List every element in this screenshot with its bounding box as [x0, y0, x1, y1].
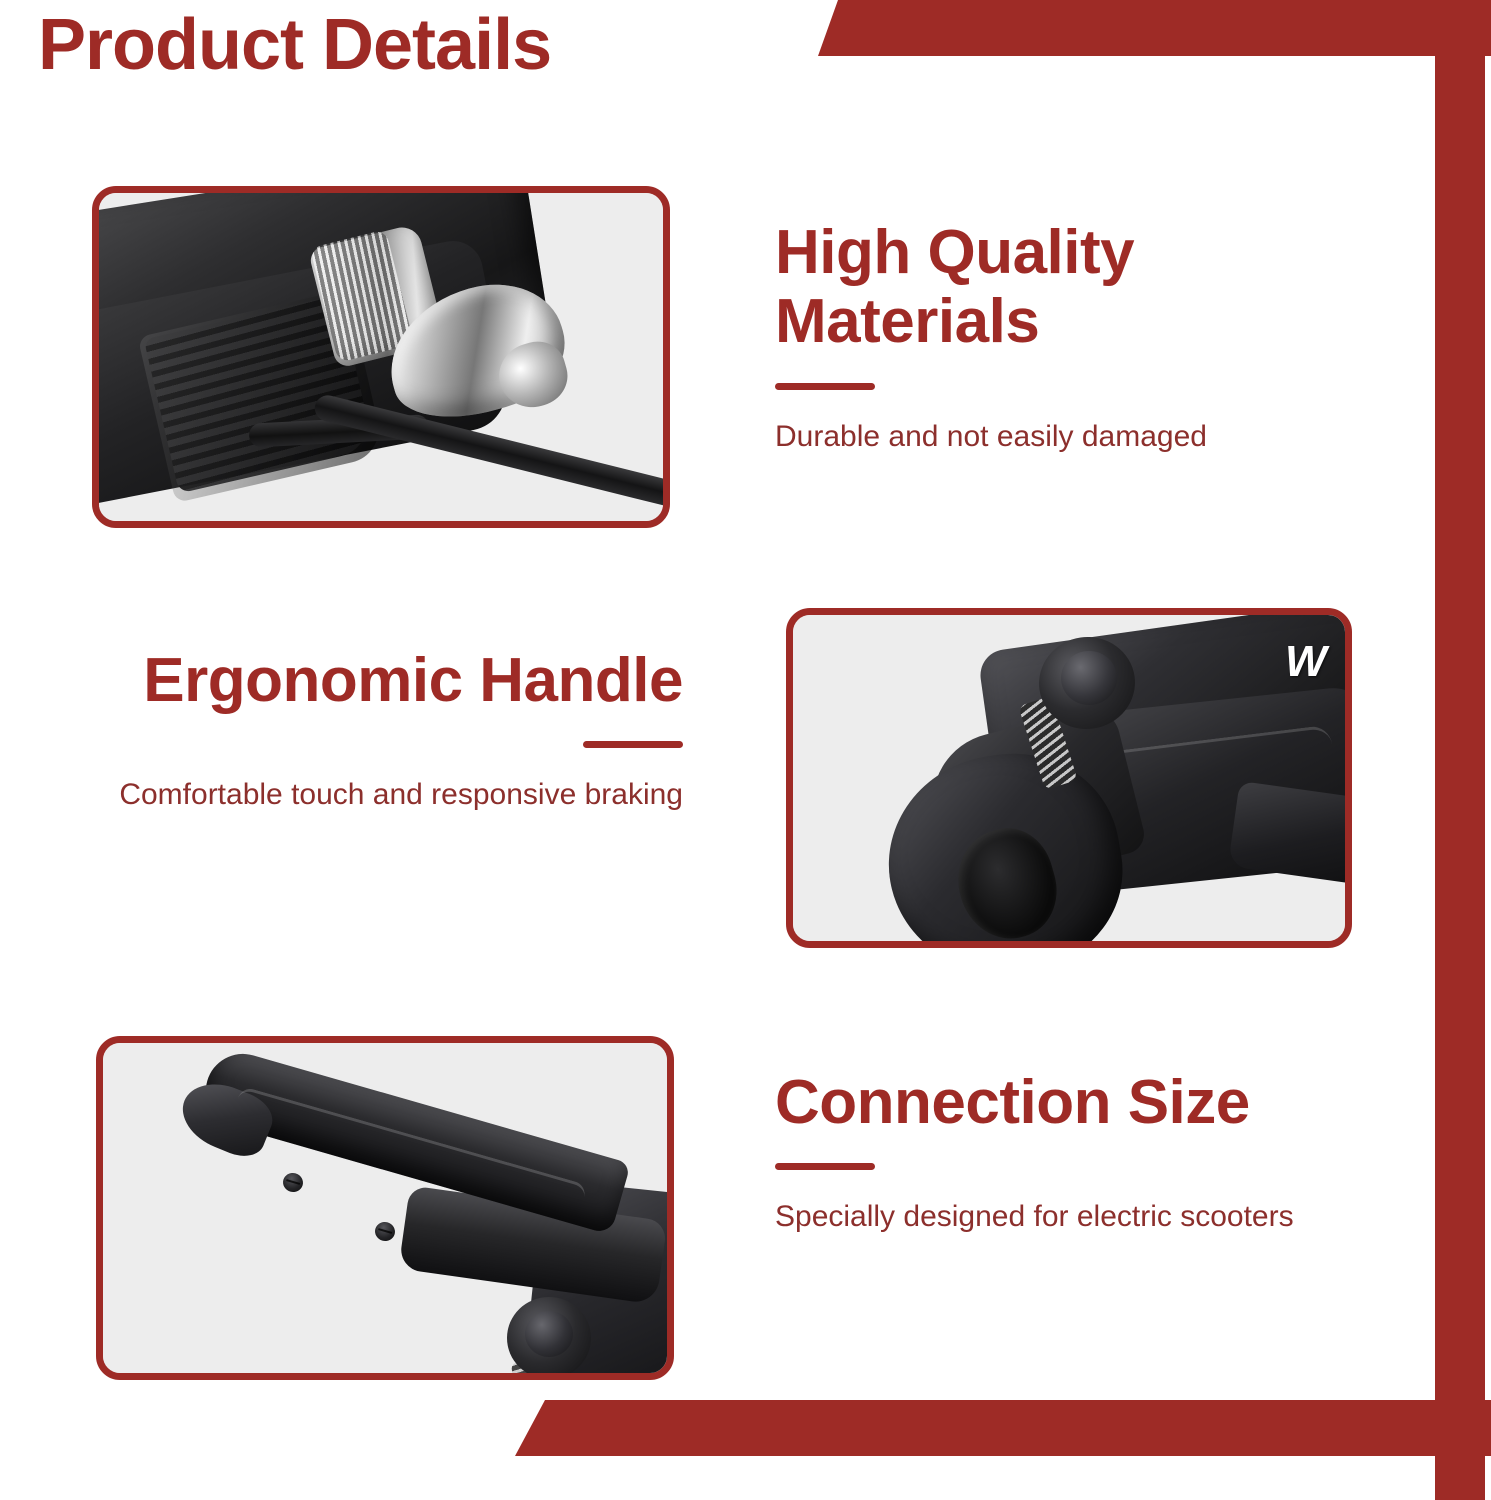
- feature-connection-size: Connection Size Specially designed for e…: [775, 1068, 1415, 1236]
- banner-bottom-angled: [515, 1400, 1491, 1456]
- feature-subtext: Comfortable touch and responsive braking: [43, 776, 683, 814]
- feature-high-quality-materials: High Quality Materials Durable and not e…: [775, 218, 1415, 455]
- feature-divider: [775, 1163, 875, 1170]
- frame-bottom-mask: [0, 1406, 545, 1456]
- feature-subtext: Durable and not easily damaged: [775, 418, 1415, 456]
- feature-subtext: Specially designed for electric scooters: [775, 1198, 1415, 1236]
- photo-stage: W: [793, 615, 1345, 941]
- page-title: Product Details: [38, 8, 551, 84]
- lever-screw-first: [281, 1171, 305, 1195]
- frame-right-bar: [1435, 0, 1485, 1500]
- feature-ergonomic-handle: Ergonomic Handle Comfortable touch and r…: [43, 646, 683, 814]
- photo-card-lever-clamp: W: [786, 608, 1352, 948]
- feature-divider: [775, 383, 875, 390]
- brand-mark-text: W: [1285, 637, 1343, 687]
- photo-stage: [99, 193, 663, 521]
- pivot-bolt-head: [1061, 651, 1117, 705]
- feature-heading: Ergonomic Handle: [43, 646, 683, 715]
- photo-card-lever-chrome-barrel: [92, 186, 670, 528]
- photo-card-lever-arm: [96, 1036, 674, 1380]
- photo-stage: [103, 1043, 667, 1373]
- feature-heading: Connection Size: [775, 1068, 1415, 1137]
- lever-screw-second: [373, 1220, 397, 1244]
- feature-heading: High Quality Materials: [775, 218, 1415, 357]
- banner-top-angled: [818, 0, 1491, 56]
- pivot-bolt-head: [525, 1311, 573, 1357]
- feature-divider: [583, 741, 683, 748]
